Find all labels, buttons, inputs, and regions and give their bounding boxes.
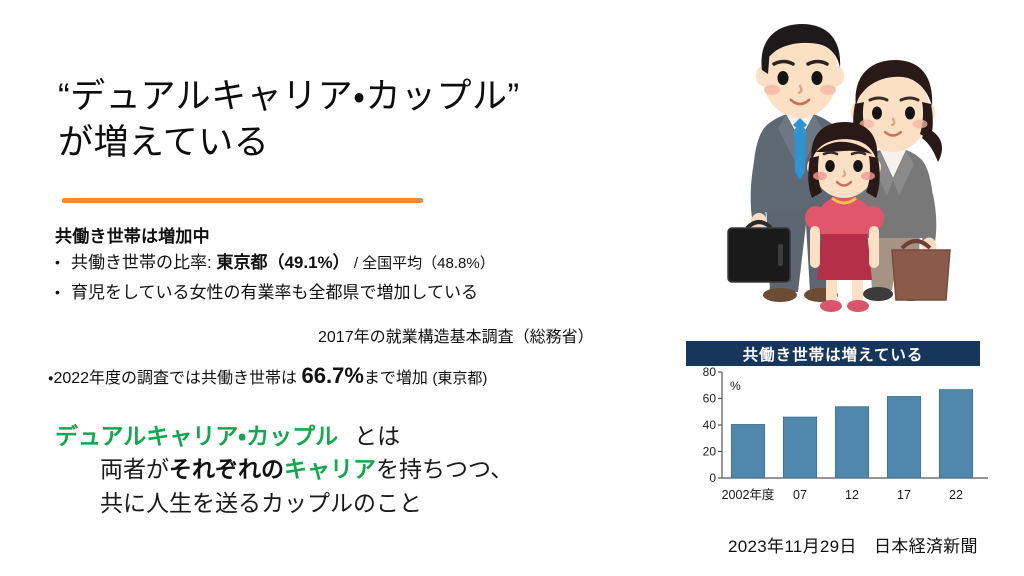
bullet-bold: 東京都（49.1%）: [216, 253, 349, 272]
brown-handbag: [892, 241, 950, 300]
list-item: • 育児をしている女性の有業率も全都県で増加している: [55, 284, 675, 301]
svg-text:40: 40: [703, 418, 717, 432]
svg-text:22: 22: [949, 488, 963, 502]
svg-text:2002年度: 2002年度: [722, 487, 775, 502]
definition-line-3: 共に人生を送るカップルのこと: [55, 487, 575, 520]
newspaper-chart: 共働き世帯は増えている 020406080%2002年度07121722: [686, 341, 1000, 519]
definition-l2-b: を持ちつつ、: [376, 456, 513, 482]
accent-divider: [62, 198, 423, 203]
note-paren: (東京都): [432, 370, 487, 387]
bullet-marker: •: [55, 254, 71, 270]
svg-text:80: 80: [703, 366, 717, 379]
note-highlight-value: 66.7%: [302, 363, 364, 388]
bullet-text: 育児をしている女性の有業率も全都県で増加している: [71, 284, 675, 301]
svg-text:12: 12: [845, 488, 859, 502]
dual-career-family-illustration: [706, 12, 1012, 322]
list-item: • 共働き世帯の比率: 東京都（49.1%） / 全国平均（48.8%）: [55, 254, 675, 271]
bullet-prefix: 共働き世帯の比率:: [71, 253, 216, 272]
bullet-marker: •: [55, 284, 71, 300]
source-citation: 2017年の就業構造基本調査（総務省）: [318, 323, 594, 347]
definition-l2-green: キャリア: [284, 456, 376, 482]
black-briefcase: [728, 222, 790, 282]
definition-term: デュアルキャリア・カップル: [55, 423, 338, 449]
note-prefix: 2022年度の調査では共働き世帯は: [53, 370, 301, 387]
note-line: ・2022年度の調査では共働き世帯は 66.7%まで増加 (東京都): [48, 363, 487, 389]
definition-l2-a: 両者が: [100, 456, 169, 482]
definition-block: デュアルキャリア・カップルとは 両者がそれぞれのキャリアを持ちつつ、 共に人生を…: [55, 420, 575, 520]
definition-term-suffix: とは: [354, 423, 400, 449]
svg-text:20: 20: [703, 445, 717, 459]
svg-text:0: 0: [709, 471, 716, 485]
definition-line-2: 両者がそれぞれのキャリアを持ちつつ、: [55, 453, 575, 486]
bullet-suffix: / 全国平均（48.8%）: [350, 255, 495, 272]
svg-text:%: %: [730, 379, 741, 393]
section-subheading: 共働き世帯は増加中: [55, 222, 210, 247]
svg-text:60: 60: [703, 392, 717, 406]
chart-title: 共働き世帯は増えている: [686, 341, 980, 366]
chart-source-caption: 2023年11月29日 日本経済新聞: [728, 532, 978, 557]
bullet-list: • 共働き世帯の比率: 東京都（49.1%） / 全国平均（48.8%） • 育…: [55, 254, 675, 314]
note-suffix: まで増加: [364, 370, 432, 387]
slide-canvas: “デュアルキャリア・カップル” が増えている 共働き世帯は増加中 • 共働き世帯…: [0, 0, 1024, 576]
bullet-text: 共働き世帯の比率: 東京都（49.1%） / 全国平均（48.8%）: [71, 254, 675, 271]
svg-text:17: 17: [897, 488, 911, 502]
page-title: “デュアルキャリア・カップル” が増えている: [58, 74, 678, 165]
svg-text:07: 07: [793, 488, 807, 502]
definition-l2-bold: それぞれの: [169, 456, 284, 482]
chart-plot-area: 020406080%2002年度07121722: [686, 366, 1000, 519]
